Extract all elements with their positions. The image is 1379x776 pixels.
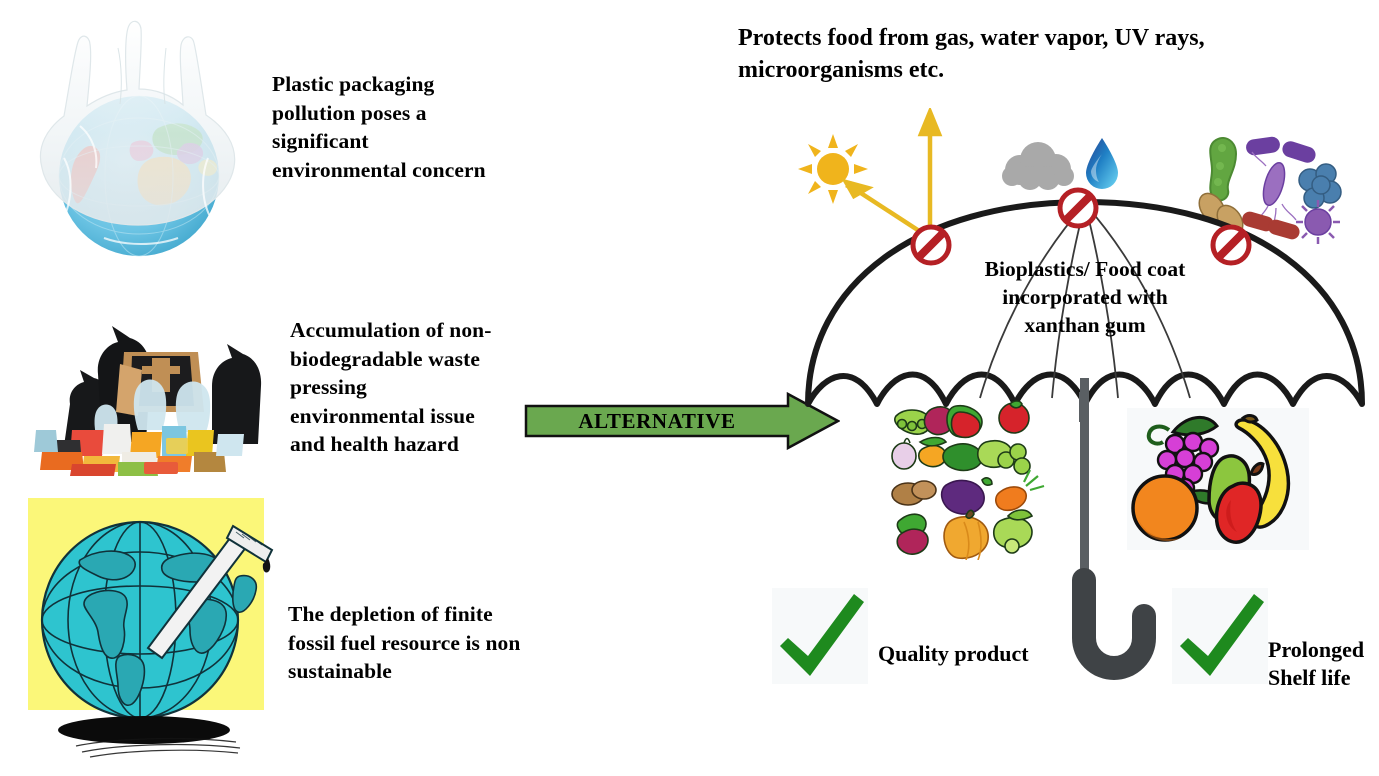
left-text-line: Plastic packaging: [272, 70, 522, 99]
left-text-line: fossil fuel resource is non: [288, 629, 588, 658]
globe-in-plastic-bag-photo: [8, 8, 270, 296]
left-text-line: environmental issue: [290, 402, 540, 431]
left-text-line: pressing: [290, 373, 540, 402]
plastic-waste-pile-illustration: [12, 312, 274, 478]
left-text-fossil-fuel-depletion: The depletion of finite fossil fuel reso…: [288, 600, 588, 686]
page-title: Protects food from gas, water vapor, UV …: [738, 22, 1358, 87]
vegetables-clipart: [890, 398, 1050, 560]
left-text-line: Accumulation of non-: [290, 316, 540, 345]
umbrella-label-line: Bioplastics/ Food coat: [950, 256, 1220, 284]
outcome-label-line: Shelf life: [1268, 664, 1379, 692]
prohibition-sign-icon[interactable]: [908, 222, 954, 268]
umbrella-label: Bioplastics/ Food coat incorporated with…: [950, 256, 1220, 340]
outcome-label-line: Prolonged: [1268, 636, 1379, 664]
check-mark-icon: [1172, 588, 1268, 684]
prohibition-sign-icon[interactable]: [1055, 185, 1101, 231]
page-title-line: Protects food from gas, water vapor, UV …: [738, 22, 1358, 54]
fruits-clipart: [1127, 408, 1309, 550]
left-text-non-biodegradable-waste: Accumulation of non- biodegradable waste…: [290, 316, 540, 459]
left-text-line: pollution poses a: [272, 99, 522, 128]
left-text-plastic-pollution: Plastic packaging pollution poses a sign…: [272, 70, 522, 184]
page-title-line: microorganisms etc.: [738, 54, 1358, 86]
umbrella-label-line: incorporated with: [950, 284, 1220, 312]
alternative-arrow-label: ALTERNATIVE: [524, 392, 790, 450]
cloud-icon: [1000, 140, 1076, 190]
globe-with-oil-drill-illustration: [28, 498, 278, 760]
outcome-label-quality-product: Quality product: [878, 640, 1078, 668]
left-text-line: biodegradable waste: [290, 345, 540, 374]
left-text-line: The depletion of finite: [288, 600, 588, 629]
outcome-label-prolonged-shelf-life: Prolonged Shelf life: [1268, 636, 1379, 691]
left-text-line: significant: [272, 127, 522, 156]
check-mark-icon: [772, 588, 868, 684]
umbrella-label-line: xanthan gum: [950, 312, 1220, 340]
outcome-label-line: Quality product: [878, 640, 1078, 668]
left-text-line: sustainable: [288, 657, 588, 686]
left-text-line: environmental concern: [272, 156, 522, 185]
left-text-line: and health hazard: [290, 430, 540, 459]
